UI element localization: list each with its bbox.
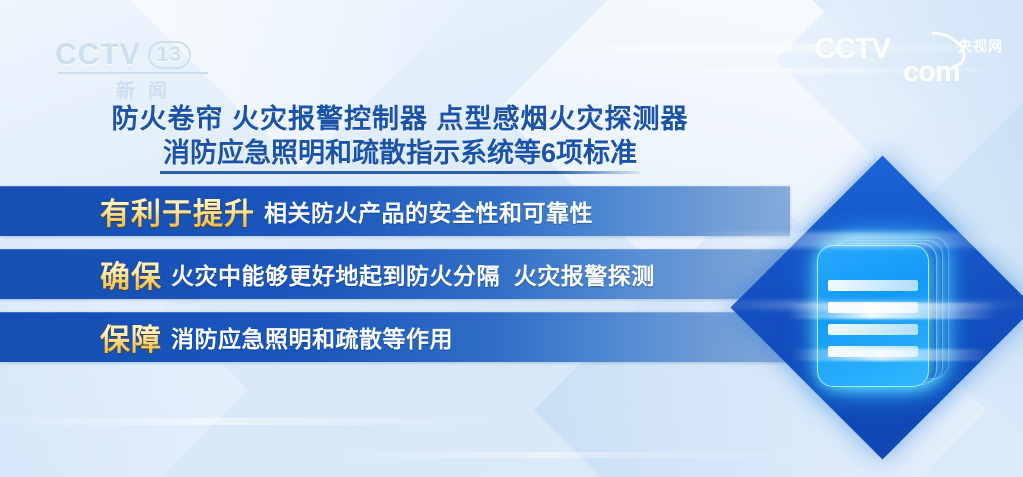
bar-1-lead-text: 有利于提升 bbox=[100, 189, 255, 233]
bar-2-lead-text: 确保 bbox=[100, 252, 162, 296]
channel-number-badge: 13 bbox=[148, 41, 191, 69]
cctv-13-logo: CCTV 13 新闻 bbox=[55, 40, 215, 96]
page-title: 防火卷帘 火灾报警控制器 点型感烟火灾探测器 消防应急照明和疏散指示系统等6项标… bbox=[0, 102, 800, 170]
headline-line-1: 防火卷帘 火灾报警控制器 点型感烟火灾探测器 bbox=[0, 102, 800, 136]
bar-3-lead-text: 保障 bbox=[100, 315, 162, 359]
document-stack-icon bbox=[817, 245, 942, 385]
headline-divider bbox=[160, 171, 640, 174]
watermark-chinese-text: 央视网 bbox=[958, 36, 1003, 56]
foreground-light-band-1 bbox=[690, 232, 1023, 248]
point-bar-3: 保障 消防应急照明和疏散等作用 bbox=[0, 312, 790, 362]
bar-2-body-text: 火灾中能够更好地起到防火分隔 火灾报警探测 bbox=[171, 257, 655, 291]
background-light-streak-3 bbox=[0, 418, 500, 425]
document-graphic bbox=[735, 170, 1023, 470]
watermark-brand-text: CCTV bbox=[815, 36, 890, 62]
cctv-com-watermark: CCTV com 央视网 bbox=[815, 36, 1005, 84]
document-glow-streak-2 bbox=[791, 349, 991, 361]
cctv-brand-text: CCTV bbox=[55, 40, 141, 70]
document-text-line-3 bbox=[828, 324, 918, 335]
point-bar-2: 确保 火灾中能够更好地起到防火分隔 火灾报警探测 bbox=[0, 249, 790, 299]
channel-name-text: 新闻 bbox=[55, 76, 215, 103]
bar-1-body-text: 相关防火产品的安全性和可靠性 bbox=[264, 194, 593, 228]
broadcast-graphic-frame: CCTV 13 新闻 CCTV com 央视网 防火卷帘 火灾报警控制器 点型感… bbox=[0, 0, 1023, 477]
point-bar-1: 有利于提升 相关防火产品的安全性和可靠性 bbox=[0, 186, 790, 236]
headline-line-2: 消防应急照明和疏散指示系统等6项标准 bbox=[0, 136, 800, 170]
logo-underline bbox=[58, 72, 208, 74]
foreground-light-band-2 bbox=[700, 300, 1023, 310]
bar-3-body-text: 消防应急照明和疏散等作用 bbox=[171, 320, 453, 354]
cctv-logo-wordmark: CCTV 13 bbox=[55, 40, 215, 70]
document-text-line-1 bbox=[828, 280, 918, 291]
